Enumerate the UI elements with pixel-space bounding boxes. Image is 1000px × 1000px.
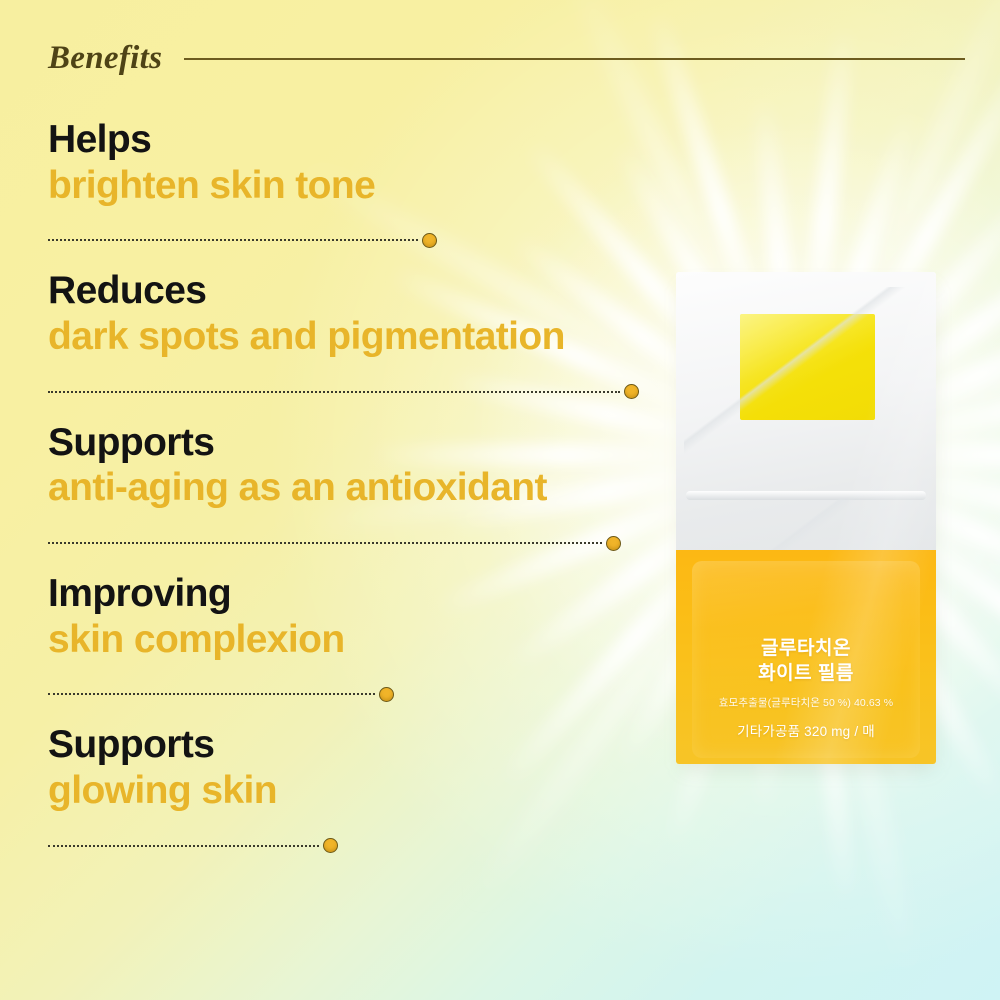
benefit-description: glowing skin	[48, 769, 668, 813]
benefit-connector	[48, 683, 668, 705]
page-header: Benefits	[48, 40, 965, 77]
product-label: 글루타치온 화이트 필름 효모추출물(글루타치온 50 %) 40.63 % 기…	[676, 636, 936, 740]
product-amount-text: 기타가공품 320 mg / 매	[676, 720, 936, 740]
benefit-connector	[48, 381, 668, 403]
benefit-description: skin complexion	[48, 618, 668, 662]
header-divider-rule	[184, 58, 965, 60]
benefit-item: Supports anti-aging as an antioxidant	[48, 421, 668, 554]
sachet-fold-crease	[684, 287, 928, 484]
dot-marker-icon	[379, 687, 394, 702]
benefit-item: Improving skin complexion	[48, 572, 668, 705]
benefit-description: anti-aging as an antioxidant	[48, 466, 668, 510]
product-name-line1: 글루타치온	[676, 636, 936, 661]
benefit-item: Helps brighten skin tone	[48, 118, 668, 251]
benefit-item: Reduces dark spots and pigmentation	[48, 269, 668, 402]
benefit-connector	[48, 229, 668, 251]
benefit-connector	[48, 835, 668, 857]
benefit-connector	[48, 532, 668, 554]
product-ingredient-text: 효모추출물(글루타치온 50 %) 40.63 %	[676, 695, 936, 710]
dotted-line	[48, 239, 418, 241]
benefit-headline: Helps	[48, 118, 668, 162]
product-package-image: 글루타치온 화이트 필름 효모추출물(글루타치온 50 %) 40.63 % 기…	[676, 272, 936, 764]
dotted-line	[48, 391, 620, 393]
benefit-description: dark spots and pigmentation	[48, 315, 668, 359]
dotted-line	[48, 542, 602, 544]
page-title: Benefits	[48, 40, 162, 77]
dotted-line	[48, 693, 375, 695]
sachet-bottom-section: 글루타치온 화이트 필름 효모추출물(글루타치온 50 %) 40.63 % 기…	[676, 550, 936, 764]
benefits-list: Helps brighten skin tone Reduces dark sp…	[48, 118, 668, 875]
benefit-headline: Improving	[48, 572, 668, 616]
benefit-headline: Supports	[48, 723, 668, 767]
benefit-headline: Supports	[48, 421, 668, 465]
dot-marker-icon	[624, 384, 639, 399]
dotted-line	[48, 845, 319, 847]
benefit-description: brighten skin tone	[48, 164, 668, 208]
benefit-headline: Reduces	[48, 269, 668, 313]
product-name-line2: 화이트 필름	[676, 661, 936, 686]
dot-marker-icon	[323, 838, 338, 853]
dot-marker-icon	[422, 233, 437, 248]
benefit-item: Supports glowing skin	[48, 723, 668, 856]
product-sachet: 글루타치온 화이트 필름 효모추출물(글루타치온 50 %) 40.63 % 기…	[676, 272, 936, 764]
dot-marker-icon	[606, 536, 621, 551]
